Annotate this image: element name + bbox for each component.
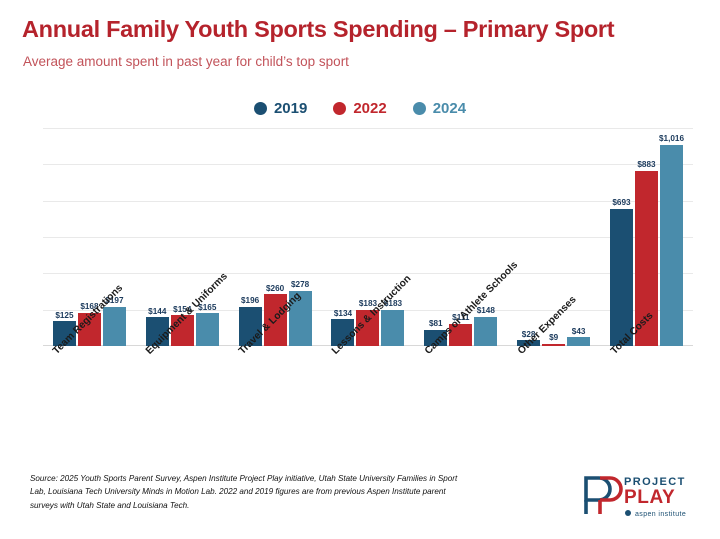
bar-column[interactable]: $196 [239, 128, 262, 346]
bar-value-label: $144 [148, 308, 166, 316]
chart-legend: 201920222024 [0, 100, 720, 117]
bar-2024[interactable] [381, 310, 404, 346]
bar-2019[interactable] [610, 209, 633, 346]
bar-column[interactable]: $28 [517, 128, 540, 346]
bar-value-label: $134 [334, 310, 352, 318]
chart-page: Annual Family Youth Sports Spending – Pr… [0, 0, 720, 539]
legend-label: 2019 [274, 100, 307, 117]
legend-swatch-icon [413, 102, 426, 115]
bar-value-label: $260 [266, 285, 284, 293]
bar-2024[interactable] [196, 313, 219, 346]
bar-column[interactable]: $148 [474, 128, 497, 346]
bar-value-label: $883 [637, 161, 655, 169]
page-subtitle: Average amount spent in past year for ch… [23, 54, 349, 69]
bar-column[interactable]: $197 [103, 128, 126, 346]
legend-label: 2024 [433, 100, 466, 117]
legend-item-2022[interactable]: 2022 [333, 100, 386, 117]
logo-tagline: aspen institute [635, 511, 686, 518]
bar-column[interactable]: $693 [610, 128, 633, 346]
legend-swatch-icon [333, 102, 346, 115]
project-play-logo: PROJECT PLAY aspen institute [578, 470, 698, 522]
bar-column[interactable]: $125 [53, 128, 76, 346]
bar-column[interactable]: $278 [289, 128, 312, 346]
bar-2024[interactable] [660, 145, 683, 346]
bar-column[interactable]: $1,016 [660, 128, 683, 346]
bar-value-label: $196 [241, 297, 259, 305]
bar-value-label: $278 [291, 281, 309, 289]
bar-column[interactable]: $144 [146, 128, 169, 346]
project-play-logo-icon: PROJECT PLAY aspen institute [578, 470, 698, 522]
bar-value-label: $81 [429, 320, 443, 328]
bar-column[interactable]: $81 [424, 128, 447, 346]
bar-column[interactable]: $134 [331, 128, 354, 346]
bar-column[interactable]: $165 [196, 128, 219, 346]
legend-label: 2022 [353, 100, 386, 117]
bar-column[interactable]: $43 [567, 128, 590, 346]
page-title: Annual Family Youth Sports Spending – Pr… [22, 16, 614, 43]
bar-2024[interactable] [474, 317, 497, 346]
logo-line2: PLAY [624, 487, 675, 508]
bar-2022[interactable] [542, 344, 565, 346]
bar-2024[interactable] [103, 307, 126, 346]
legend-item-2024[interactable]: 2024 [413, 100, 466, 117]
bar-value-label: $1,016 [659, 135, 684, 143]
bar-value-label: $43 [572, 328, 586, 336]
bar-column[interactable]: $183 [381, 128, 404, 346]
legend-swatch-icon [254, 102, 267, 115]
legend-item-2019[interactable]: 2019 [254, 100, 307, 117]
bar-value-label: $9 [549, 334, 558, 342]
bar-value-label: $148 [477, 307, 495, 315]
bar-2024[interactable] [567, 337, 590, 346]
bar-value-label: $125 [55, 312, 73, 320]
bar-value-label: $693 [612, 199, 630, 207]
source-note: Source: 2025 Youth Sports Parent Survey,… [30, 472, 470, 512]
aspen-leaf-icon [625, 510, 631, 516]
